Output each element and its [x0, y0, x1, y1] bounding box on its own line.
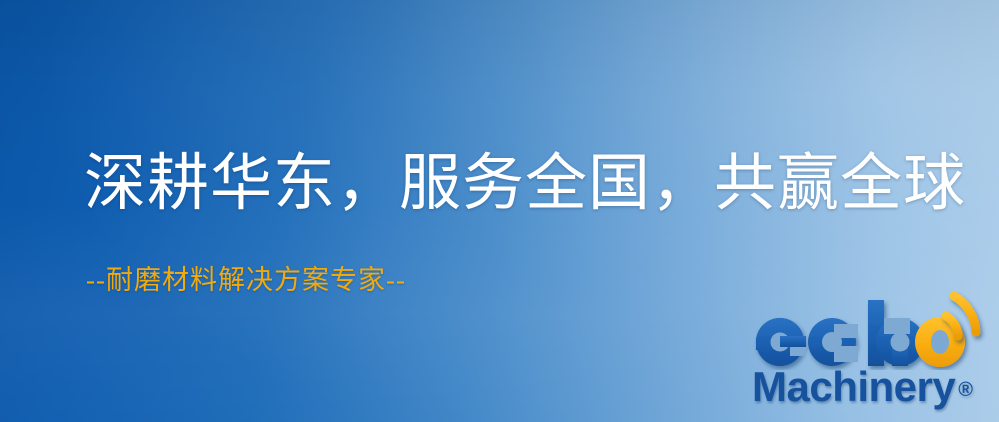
logo-wordmark [744, 292, 999, 370]
company-logo[interactable]: echo Machinery ® [744, 292, 999, 422]
logo-subtext: Machinery ® [752, 366, 999, 422]
logo-subtext-machinery: Machinery [752, 366, 955, 408]
banner-headline: 深耕华东，服务全国，共赢全球 [84, 152, 966, 217]
logo-wordmark-svg [744, 292, 999, 370]
registered-trademark-mark: ® [958, 380, 973, 400]
logo-letters-group [756, 300, 965, 367]
banner-subtitle: --耐磨材料解决方案专家-- [86, 266, 406, 296]
hero-banner: 深耕华东，服务全国，共赢全球 --耐磨材料解决方案专家-- [0, 0, 999, 422]
